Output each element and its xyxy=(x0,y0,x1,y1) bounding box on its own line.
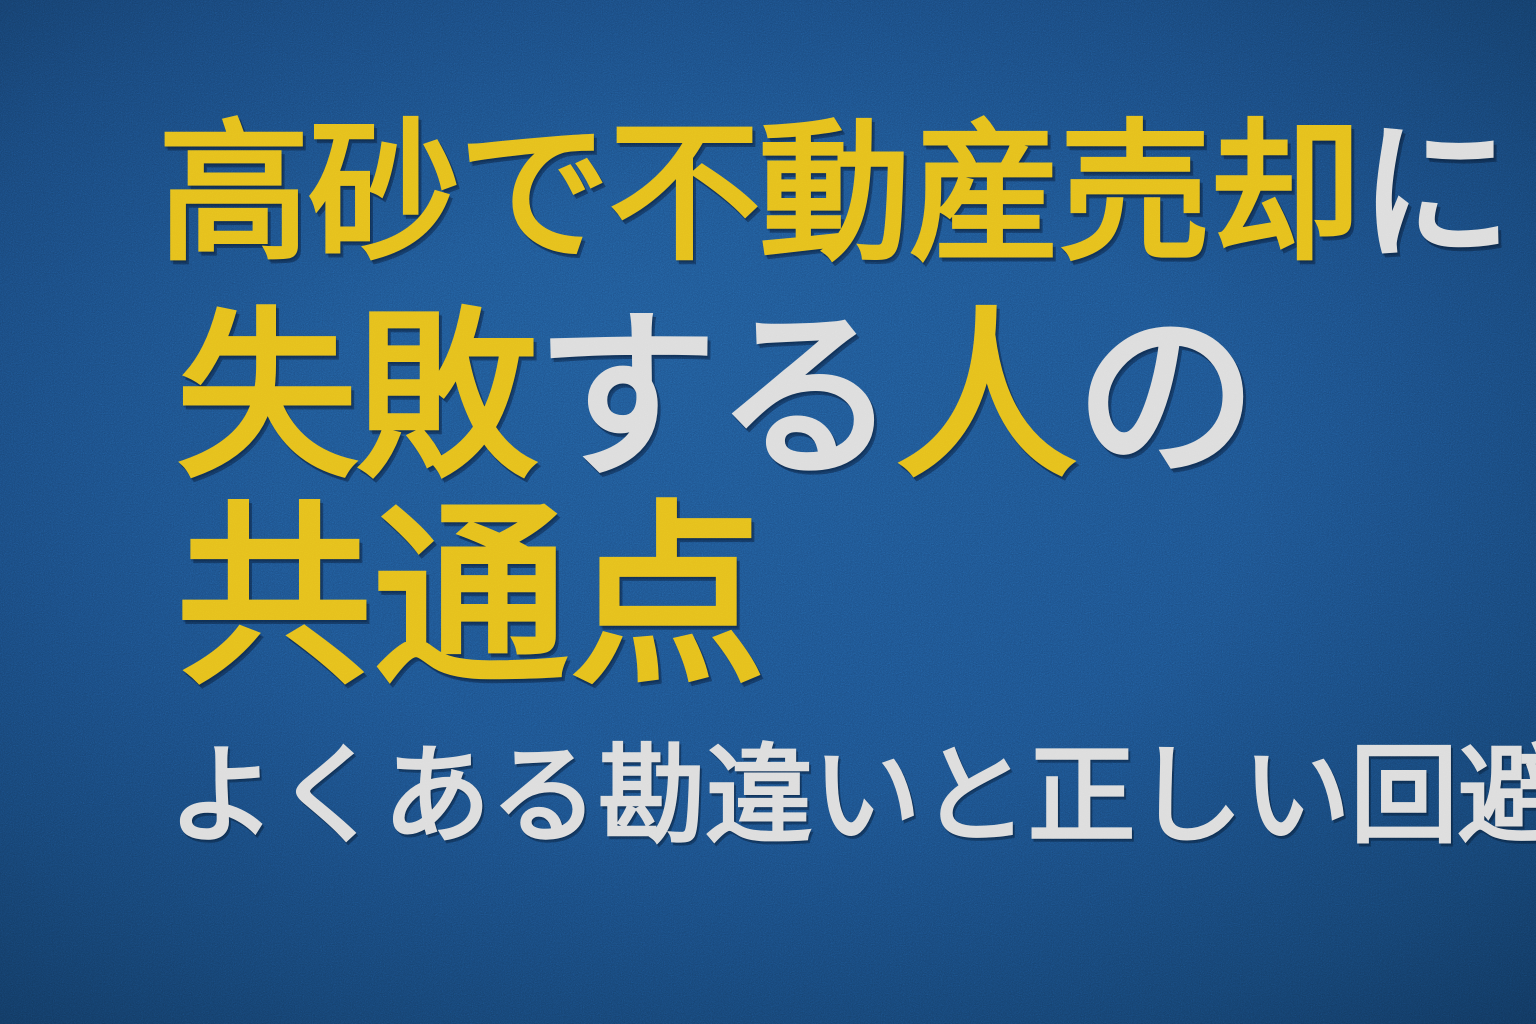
headline-line-3-segment-yellow: 共通点 xyxy=(176,500,767,696)
headline-line-1-segment-white: に xyxy=(1359,118,1509,270)
headline-line-1: 高砂で不動産売却に xyxy=(158,118,1510,270)
headline-block: 高砂で不動産売却に 失敗する人の 共通点 よくある勘違いと正しい回避策 xyxy=(0,0,1536,1024)
headline-line-2-segment-shippai: 失敗 xyxy=(176,306,536,488)
headline-line-1-segment-yellow: 高砂で不動産売却 xyxy=(158,118,1359,270)
headline-line-3: 共通点 xyxy=(176,500,767,696)
subtitle-line: よくある勘違いと正しい回避策 xyxy=(168,742,1536,850)
subtitle-segment-white: よくある勘違いと正しい回避策 xyxy=(168,742,1536,850)
headline-line-2-segment-suru: する xyxy=(536,306,896,488)
headline-line-2: 失敗する人の xyxy=(176,306,1255,488)
poster-canvas: 高砂で不動産売却に 失敗する人の 共通点 よくある勘違いと正しい回避策 xyxy=(0,0,1536,1024)
headline-line-2-segment-no: の xyxy=(1075,306,1255,488)
headline-line-2-segment-hito: 人 xyxy=(895,306,1075,488)
